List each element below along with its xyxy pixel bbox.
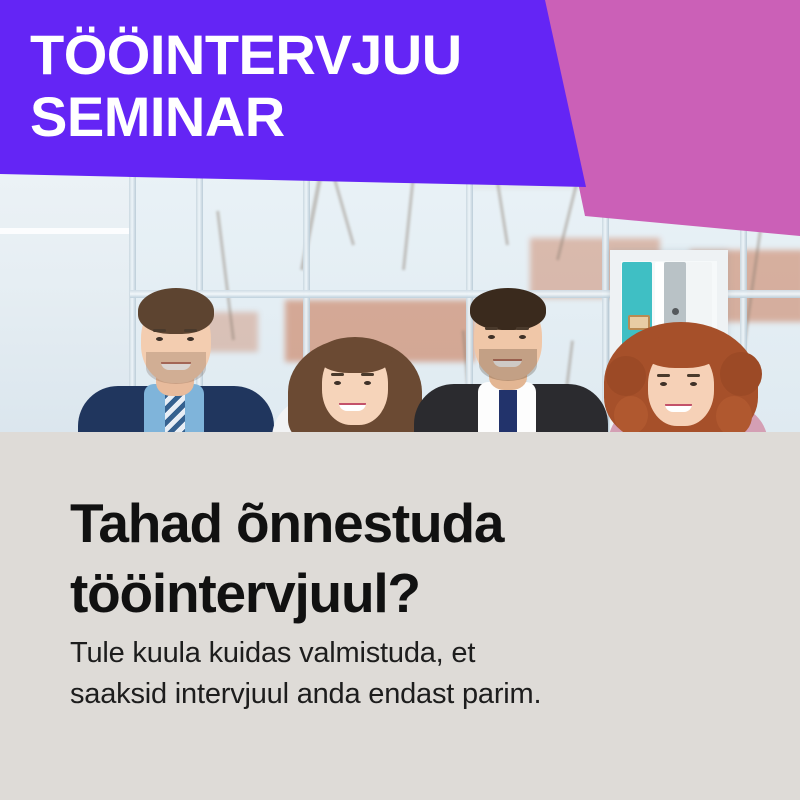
headline-line-2: tööintervjuul? — [70, 558, 730, 628]
subtext: Tule kuula kuidas valmistuda, et saaksid… — [70, 633, 710, 715]
poster-root: TÖÖINTERVJUU SEMINAR Tahad õnnestuda töö… — [0, 0, 800, 800]
headline-line-1: Tahad õnnestuda — [70, 488, 730, 558]
headline: Tahad õnnestuda tööintervjuul? — [70, 488, 730, 628]
banner-title-line-2: SEMINAR — [30, 86, 550, 148]
subtext-line-2: saaksid intervjuul anda endast parim. — [70, 674, 710, 715]
subtext-line-1: Tule kuula kuidas valmistuda, et — [70, 633, 710, 674]
content-section: Tahad õnnestuda tööintervjuul? Tule kuul… — [0, 432, 800, 800]
banner-title-block: TÖÖINTERVJUU SEMINAR — [30, 24, 550, 148]
banner-title-line-1: TÖÖINTERVJUU — [30, 24, 550, 86]
